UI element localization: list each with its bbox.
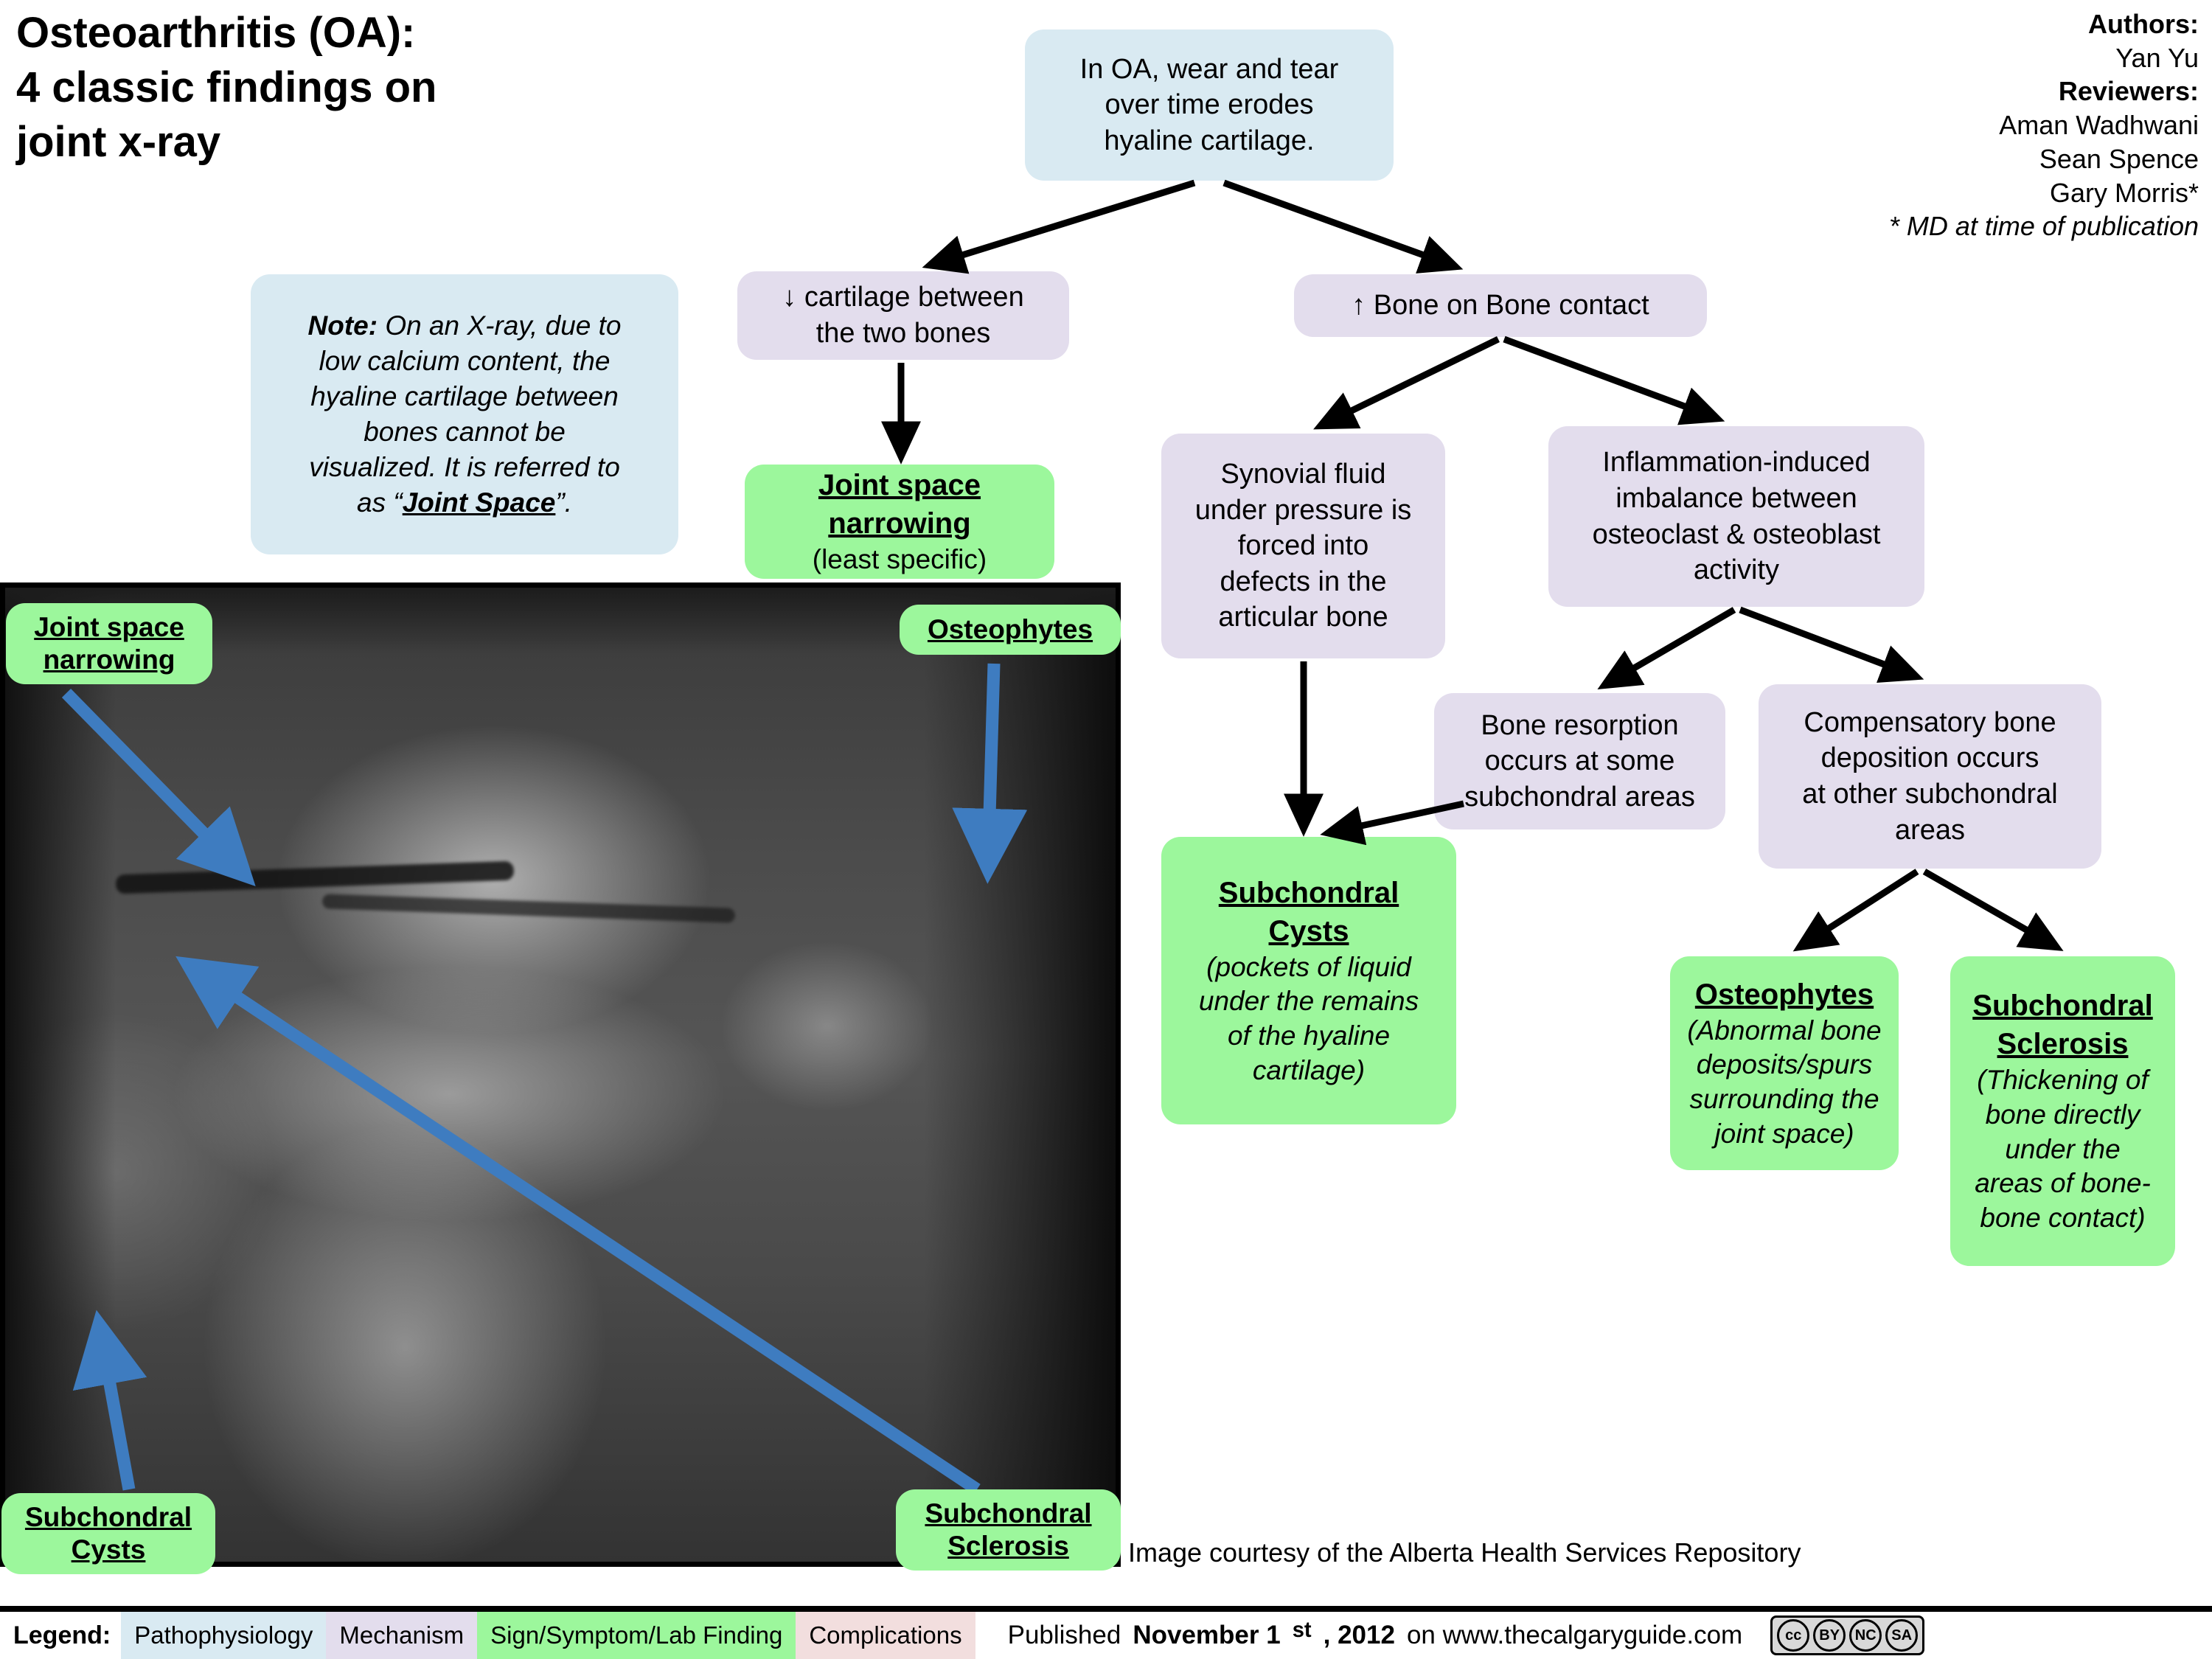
- cc-by-icon: BY: [1813, 1619, 1846, 1652]
- legend-bar: Legend: Pathophysiology Mechanism Sign/S…: [0, 1606, 2212, 1659]
- synovial-line-5: articular bone: [1172, 599, 1435, 636]
- osteophytes-sub-line-4: joint space): [1680, 1117, 1888, 1152]
- synovial-line-3: forced into: [1172, 528, 1435, 564]
- xray-label-subchondral-sclerosis: Subchondral Sclerosis: [896, 1489, 1121, 1571]
- xray-label-sclerosis-line-1: Subchondral: [906, 1498, 1110, 1530]
- note-line-d: bones cannot be: [261, 414, 668, 450]
- cartilage-line-2: the two bones: [748, 316, 1059, 352]
- jsn-subtitle: (least specific): [755, 543, 1044, 577]
- note-line-c: hyaline cartilage between: [261, 379, 668, 414]
- xray-label-cysts-line-1: Subchondral: [12, 1501, 205, 1534]
- box-cartilage-decrease: ↓ cartilage between the two bones: [737, 271, 1069, 360]
- xray-label-subchondral-cysts: Subchondral Cysts: [1, 1493, 215, 1574]
- published-date: November 1: [1133, 1621, 1280, 1650]
- osteophytes-sub-line-3: surrounding the: [1680, 1082, 1888, 1117]
- cysts-sub-line-3: of the hyaline: [1172, 1019, 1446, 1054]
- cc-icon: cc: [1777, 1619, 1809, 1652]
- osteophytes-sub-line-2: deposits/spurs: [1680, 1048, 1888, 1082]
- box-subchondral-cysts: Subchondral Cysts (pockets of liquid und…: [1161, 837, 1456, 1124]
- legend-spacer: [975, 1612, 986, 1659]
- legend-item-mechanism[interactable]: Mechanism: [326, 1612, 477, 1659]
- reviewers-label: Reviewers:: [1742, 74, 2199, 108]
- sclerosis-sub-line-2: bone directly: [1961, 1098, 2165, 1133]
- sclerosis-sub-line-5: bone contact): [1961, 1201, 2165, 1236]
- page-title: Osteoarthritis (OA): 4 classic findings …: [16, 6, 577, 170]
- sclerosis-title-line-1: Subchondral: [1961, 987, 2165, 1025]
- xray-label-jsn-line-2: narrowing: [16, 644, 202, 676]
- jsn-title-line-2: narrowing: [755, 504, 1044, 543]
- reviewer-name-3: Gary Morris*: [1742, 176, 2199, 210]
- note-line-f-post: ”.: [555, 487, 572, 518]
- cysts-title-line-2: Cysts: [1172, 912, 1446, 950]
- sclerosis-sub-line-3: under the: [1961, 1133, 2165, 1167]
- authors-block: Authors: Yan Yu Reviewers: Aman Wadhwani…: [1742, 7, 2199, 243]
- title-line-2: 4 classic findings on: [16, 60, 577, 115]
- sclerosis-title-line-2: Sclerosis: [1961, 1025, 2165, 1063]
- box-inflammation-imbalance: Inflammation-induced imbalance between o…: [1548, 426, 1924, 607]
- published-prefix: Published: [1008, 1621, 1121, 1650]
- box-joint-space-narrowing: Joint space narrowing (least specific): [745, 465, 1054, 579]
- deposition-line-2: deposition occurs: [1769, 740, 2091, 776]
- deposition-line-4: areas: [1769, 813, 2091, 849]
- note-line-b: low calcium content, the: [261, 344, 668, 379]
- note-line-e: visualized. It is referred to: [261, 450, 668, 485]
- published-site: on www.thecalgaryguide.com: [1407, 1621, 1742, 1650]
- deposition-line-1: Compensatory bone: [1769, 705, 2091, 741]
- author-name: Yan Yu: [1742, 41, 2199, 75]
- cc-nc-icon: NC: [1849, 1619, 1882, 1652]
- xray-label-sclerosis-line-2: Sclerosis: [906, 1530, 1110, 1562]
- xray-shadow-right: [924, 588, 1116, 1562]
- wear-tear-line-3: hyaline cartilage.: [1035, 123, 1383, 159]
- inflammation-line-4: activity: [1559, 552, 1914, 588]
- note-prefix: Note:: [308, 310, 378, 341]
- published-year: , 2012: [1324, 1621, 1395, 1650]
- legend-item-pathophysiology[interactable]: Pathophysiology: [121, 1612, 326, 1659]
- osteophytes-sub-line-1: (Abnormal bone: [1680, 1014, 1888, 1048]
- xray-label-osteophytes: Osteophytes: [900, 605, 1121, 655]
- legend-item-complications[interactable]: Complications: [796, 1612, 975, 1659]
- cartilage-line-1: ↓ cartilage between: [748, 279, 1059, 316]
- bone-on-bone-line-1: ↑ Bone on Bone contact: [1304, 288, 1697, 324]
- legend-label: Legend:: [0, 1612, 121, 1659]
- published-date-suffix: st: [1293, 1618, 1312, 1642]
- xray-label-joint-space-narrowing: Joint space narrowing: [6, 603, 212, 684]
- osteophytes-title: Osteophytes: [1680, 975, 1888, 1014]
- resorption-line-3: subchondral areas: [1444, 779, 1715, 815]
- wear-tear-line-2: over time erodes: [1035, 87, 1383, 123]
- title-line-3: joint x-ray: [16, 115, 577, 170]
- note-line-a: On an X-ray, due to: [378, 310, 621, 341]
- box-bone-resorption: Bone resorption occurs at some subchondr…: [1434, 693, 1725, 829]
- inflammation-line-1: Inflammation-induced: [1559, 445, 1914, 481]
- xray-label-osteophytes-text: Osteophytes: [910, 613, 1110, 646]
- knee-xray-image: [0, 582, 1121, 1567]
- cysts-sub-line-2: under the remains: [1172, 984, 1446, 1019]
- image-courtesy-text: Image courtesy of the Alberta Health Ser…: [1128, 1537, 1801, 1568]
- deposition-line-3: at other subchondral: [1769, 776, 2091, 813]
- synovial-line-1: Synovial fluid: [1172, 456, 1435, 493]
- box-osteophytes: Osteophytes (Abnormal bone deposits/spur…: [1670, 956, 1899, 1170]
- reviewer-name-1: Aman Wadhwani: [1742, 108, 2199, 142]
- box-synovial-fluid: Synovial fluid under pressure is forced …: [1161, 434, 1445, 658]
- publication-info: Published November 1st, 2012 on www.thec…: [986, 1612, 1925, 1659]
- xray-label-cysts-line-2: Cysts: [12, 1534, 205, 1566]
- note-line-f-pre: as “: [357, 487, 403, 518]
- note-term-joint-space: Joint Space: [403, 487, 556, 518]
- box-bone-deposition: Compensatory bone deposition occurs at o…: [1759, 684, 2101, 869]
- creative-commons-badge[interactable]: cc BY NC SA: [1770, 1615, 1924, 1655]
- authors-label: Authors:: [1742, 7, 2199, 41]
- reviewer-name-2: Sean Spence: [1742, 142, 2199, 176]
- xray-label-jsn-line-1: Joint space: [16, 611, 202, 644]
- synovial-line-2: under pressure is: [1172, 493, 1435, 529]
- legend-item-sign-symptom-lab-finding[interactable]: Sign/Symptom/Lab Finding: [477, 1612, 796, 1659]
- sclerosis-sub-line-1: (Thickening of: [1961, 1063, 2165, 1098]
- cysts-sub-line-4: cartilage): [1172, 1054, 1446, 1088]
- synovial-line-4: defects in the: [1172, 564, 1435, 600]
- resorption-line-2: occurs at some: [1444, 743, 1715, 779]
- title-line-1: Osteoarthritis (OA):: [16, 6, 577, 60]
- inflammation-line-2: imbalance between: [1559, 481, 1914, 517]
- sclerosis-sub-line-4: areas of bone-: [1961, 1166, 2165, 1201]
- box-subchondral-sclerosis: Subchondral Sclerosis (Thickening of bon…: [1950, 956, 2175, 1266]
- resorption-line-1: Bone resorption: [1444, 708, 1715, 744]
- box-wear-and-tear: In OA, wear and tear over time erodes hy…: [1025, 29, 1394, 181]
- cc-sa-icon: SA: [1885, 1619, 1918, 1652]
- wear-tear-line-1: In OA, wear and tear: [1035, 52, 1383, 88]
- box-note-joint-space: Note: On an X-ray, due to low calcium co…: [251, 274, 678, 554]
- xray-shadow-left: [5, 588, 116, 1562]
- cysts-title-line-1: Subchondral: [1172, 874, 1446, 912]
- jsn-title-line-1: Joint space: [755, 466, 1044, 504]
- inflammation-line-3: osteoclast & osteoblast: [1559, 517, 1914, 553]
- cysts-sub-line-1: (pockets of liquid: [1172, 950, 1446, 985]
- box-bone-on-bone-contact: ↑ Bone on Bone contact: [1294, 274, 1707, 337]
- authors-footnote: * MD at time of publication: [1742, 209, 2199, 243]
